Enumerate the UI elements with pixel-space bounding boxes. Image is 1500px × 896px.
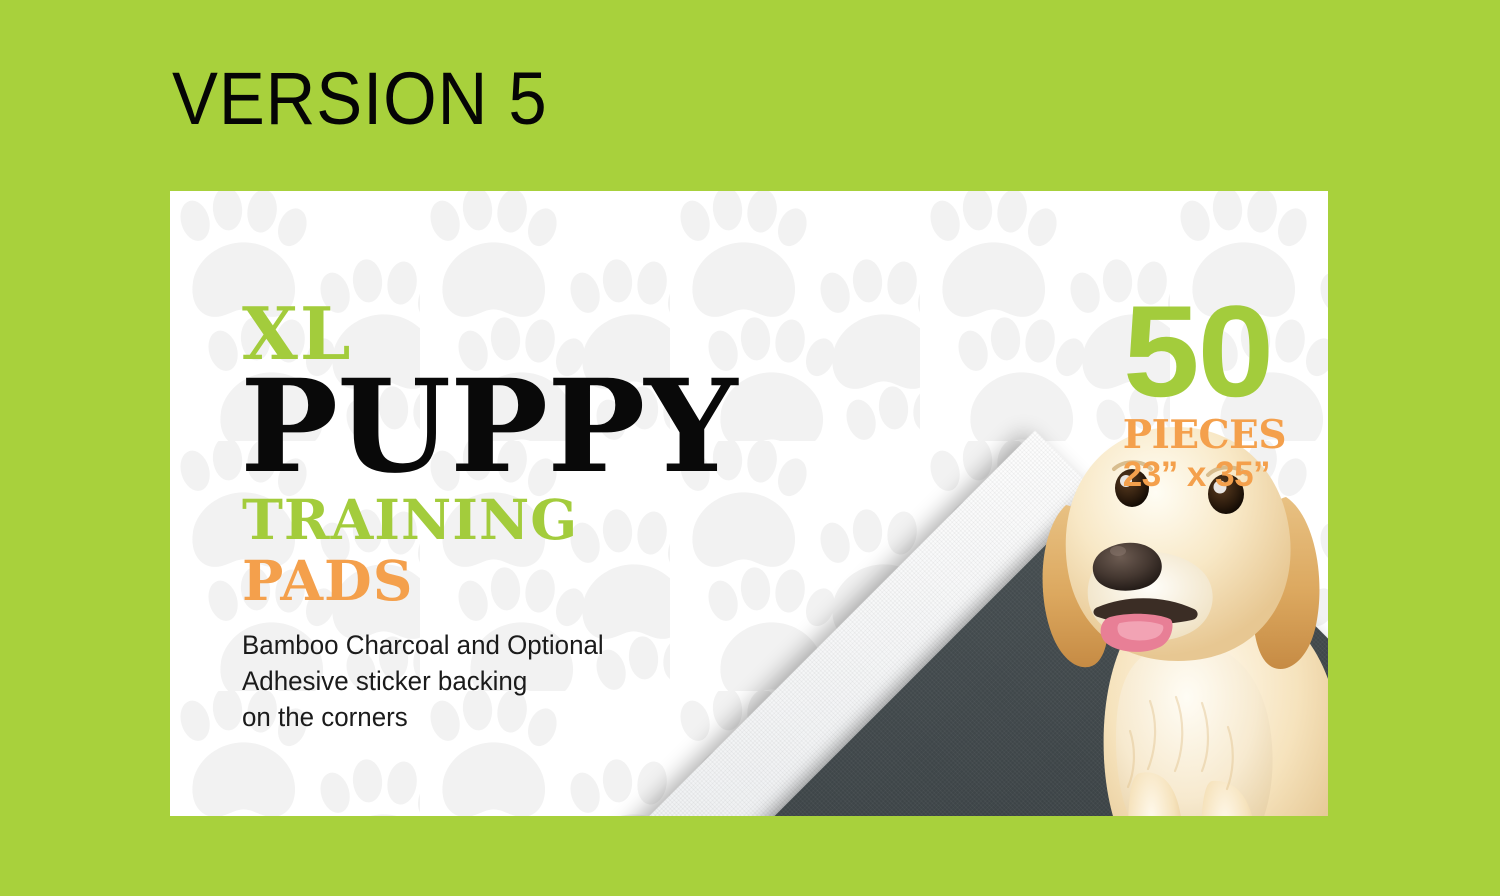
product-description: Bamboo Charcoal and Optional Adhesive st…	[242, 628, 664, 736]
description-line-3: on the corners	[242, 700, 664, 736]
poster-canvas: VERSION 5	[0, 0, 1500, 896]
product-name: PUPPY	[240, 363, 736, 491]
piece-count-number: 50	[1123, 292, 1296, 412]
product-package-card: XL PUPPY TRAINING PADS Bamboo Charcoal a…	[170, 191, 1328, 816]
description-line-1: Bamboo Charcoal and Optional	[242, 628, 664, 664]
pad-dimensions: 23” x 35”	[1123, 457, 1286, 492]
product-subtitle-pads: PADS	[242, 553, 413, 608]
product-subtitle-training: TRAINING	[242, 492, 578, 547]
version-label: VERSION 5	[172, 62, 548, 136]
product-copy-block: XL PUPPY TRAINING PADS Bamboo Charcoal a…	[240, 191, 800, 816]
piece-count-badge: 50 PIECES 23” x 35”	[1123, 292, 1286, 492]
description-line-2: Adhesive sticker backing	[242, 664, 664, 700]
